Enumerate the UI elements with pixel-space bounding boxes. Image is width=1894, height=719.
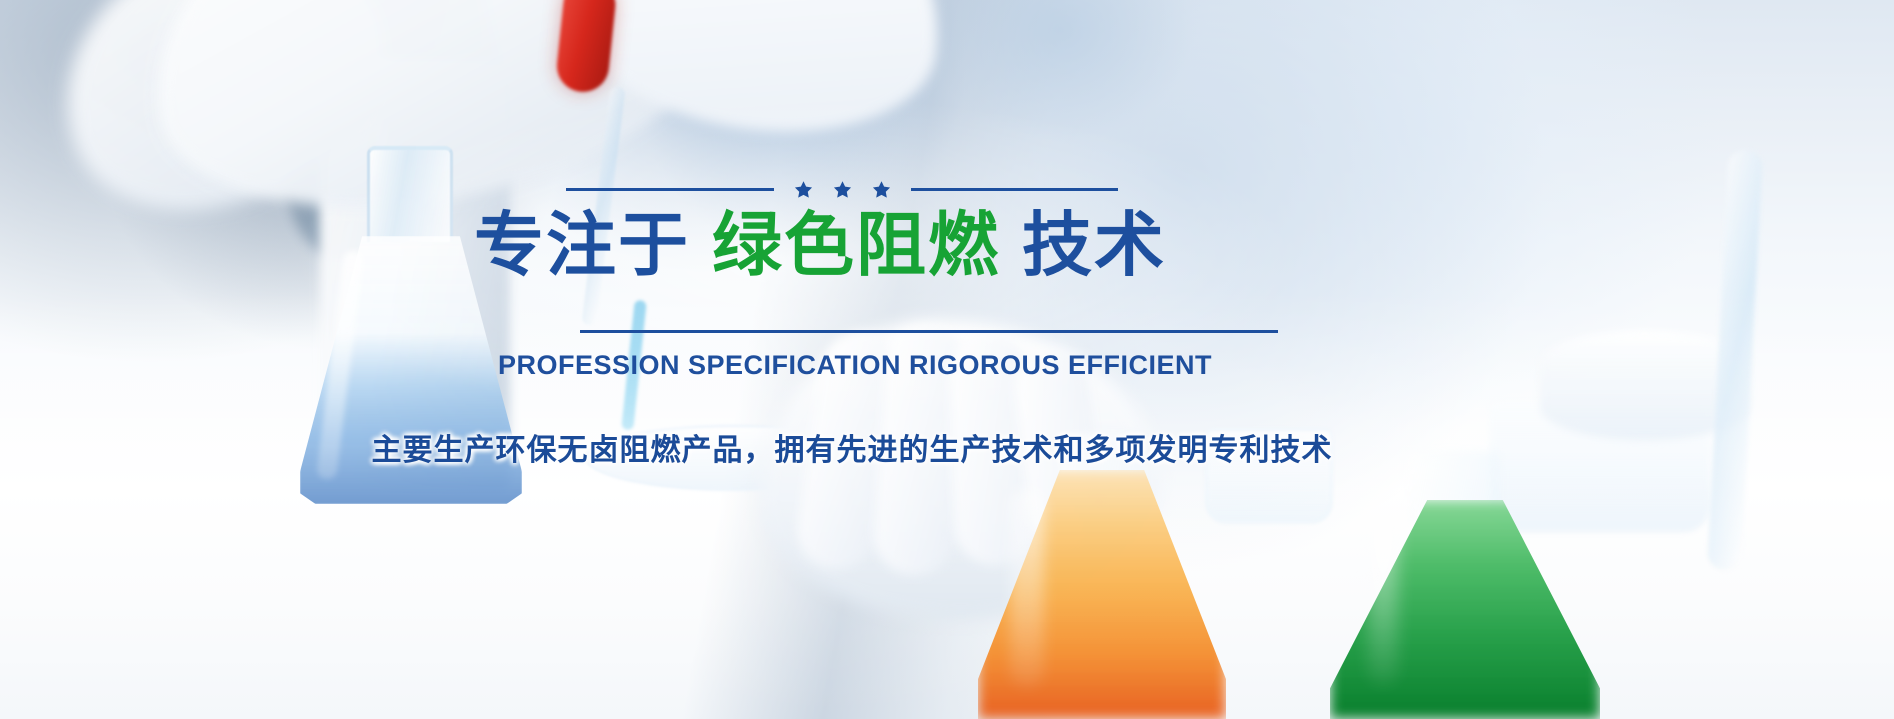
hero-banner: 专注于 绿色阻燃 技术 PROFESSION SPECIFICATION RIG… [0,0,1894,719]
background-text-wash [0,0,1894,719]
